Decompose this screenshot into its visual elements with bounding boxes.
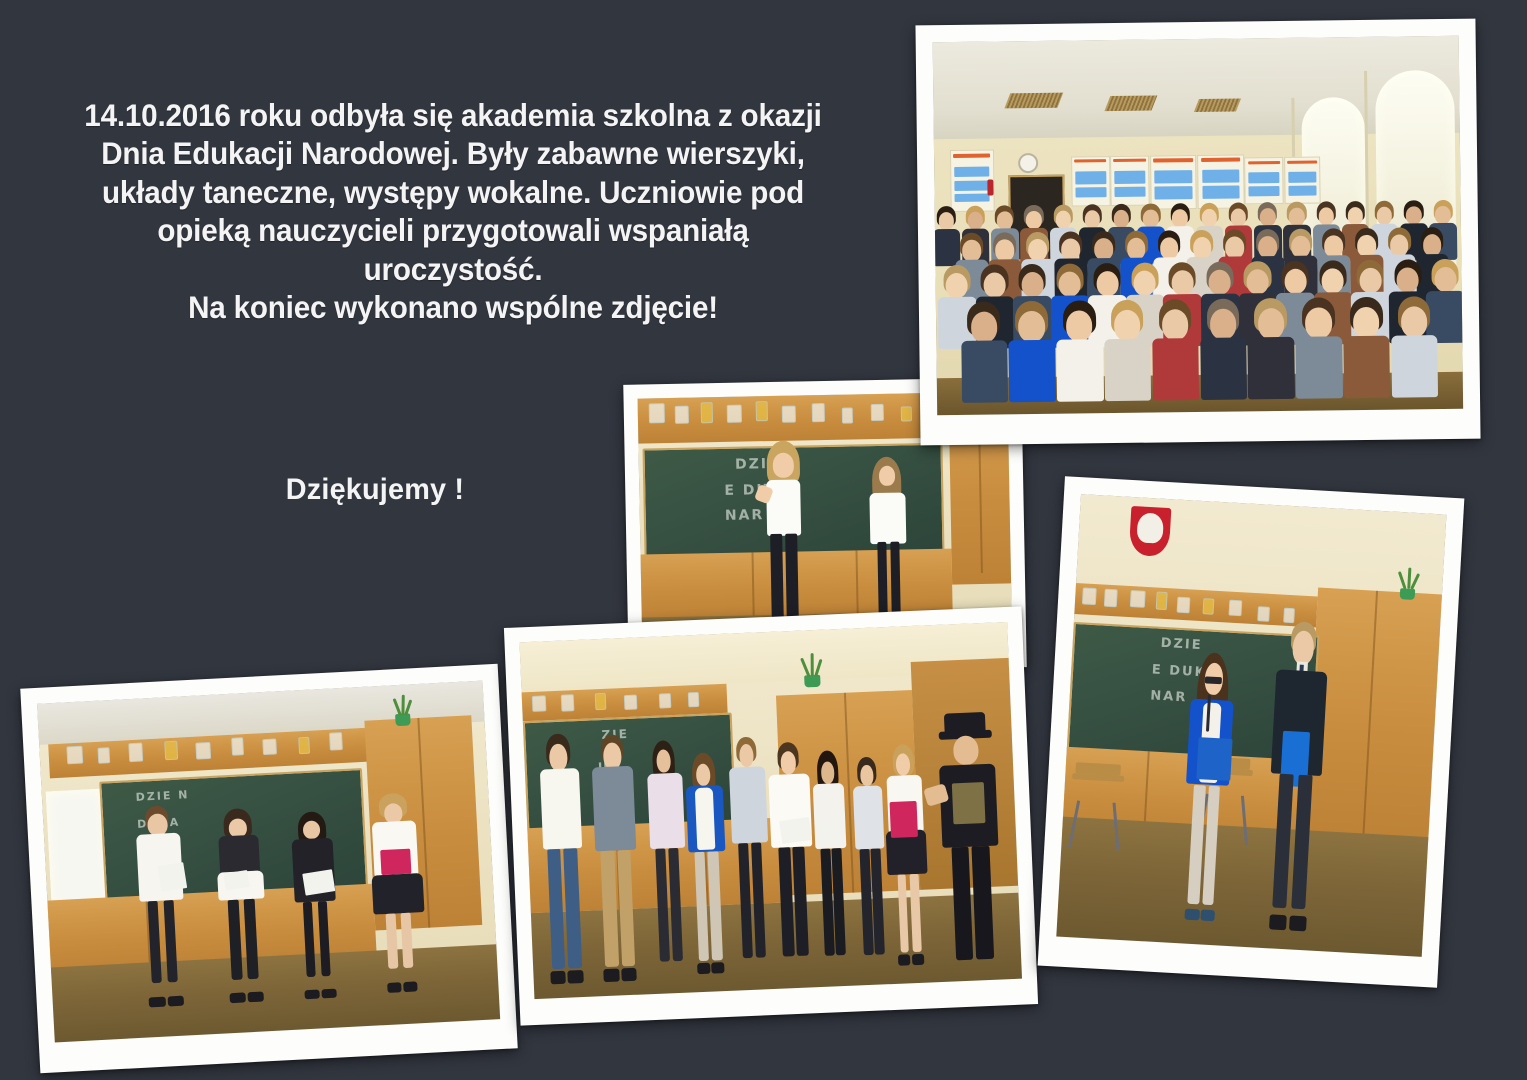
photo-four-presenters[interactable]: DZIE N DUKA RO D [20, 664, 517, 1073]
thanks-text: Dziękujemy ! [106, 473, 644, 507]
page-title: 14.10.2016 roku odbyła się akademia szko… [35, 96, 872, 327]
photo-microphone-pair[interactable]: DZIE E DUK NAR [1038, 476, 1465, 988]
photo-choir-group-image: ZIE UK [520, 622, 1023, 999]
photo-group-assembly-image [933, 36, 1464, 415]
photo-four-presenters-image: DZIE N DUKA RO D [37, 681, 500, 1043]
photo-group-assembly[interactable] [915, 19, 1480, 446]
photo-choir-group[interactable]: ZIE UK [504, 606, 1038, 1025]
photo-microphone-pair-image: DZIE E DUK NAR [1056, 494, 1446, 957]
collage-canvas: 14.10.2016 roku odbyła się akademia szko… [0, 0, 1527, 1080]
